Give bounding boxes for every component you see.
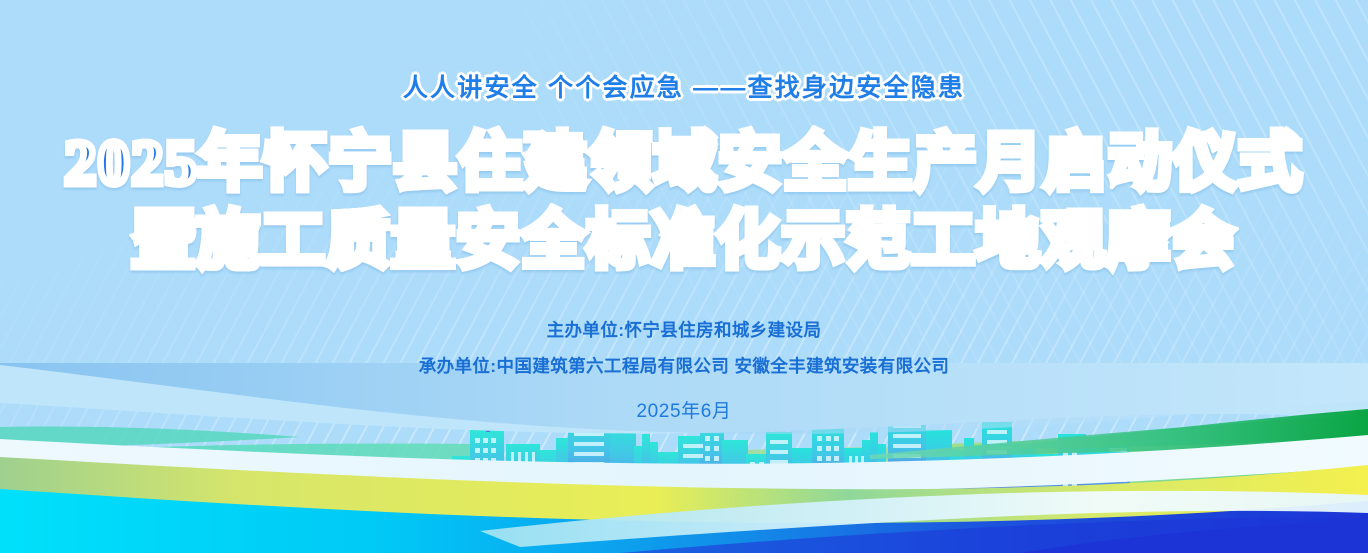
banner-title-line-1-text: 2025年怀宁县住建领域安全生产月启动仪式 xyxy=(65,128,1304,198)
banner-subtitle: 人人讲安全 个个会应急 ——查找身边安全隐患 xyxy=(0,68,1368,104)
event-banner: 人人讲安全 个个会应急 ——查找身边安全隐患 2025年怀宁县住建领域安全生产月… xyxy=(0,0,1368,553)
organizer-line: 主办单位:怀宁县住房和城乡建设局 xyxy=(0,317,1368,342)
banner-title-line-2-text: 暨施工质量安全标准化示范工地观摩会 xyxy=(132,206,1237,276)
event-date: 2025年6月 xyxy=(0,396,1368,423)
co-organizer-line: 承办单位:中国建筑第六工程局有限公司 安徽全丰建筑安装有限公司 xyxy=(0,353,1368,378)
banner-content: 人人讲安全 个个会应急 ——查找身边安全隐患 2025年怀宁县住建领域安全生产月… xyxy=(0,0,1368,553)
banner-title-line-2: 暨施工质量安全标准化示范工地观摩会 xyxy=(0,190,1368,281)
